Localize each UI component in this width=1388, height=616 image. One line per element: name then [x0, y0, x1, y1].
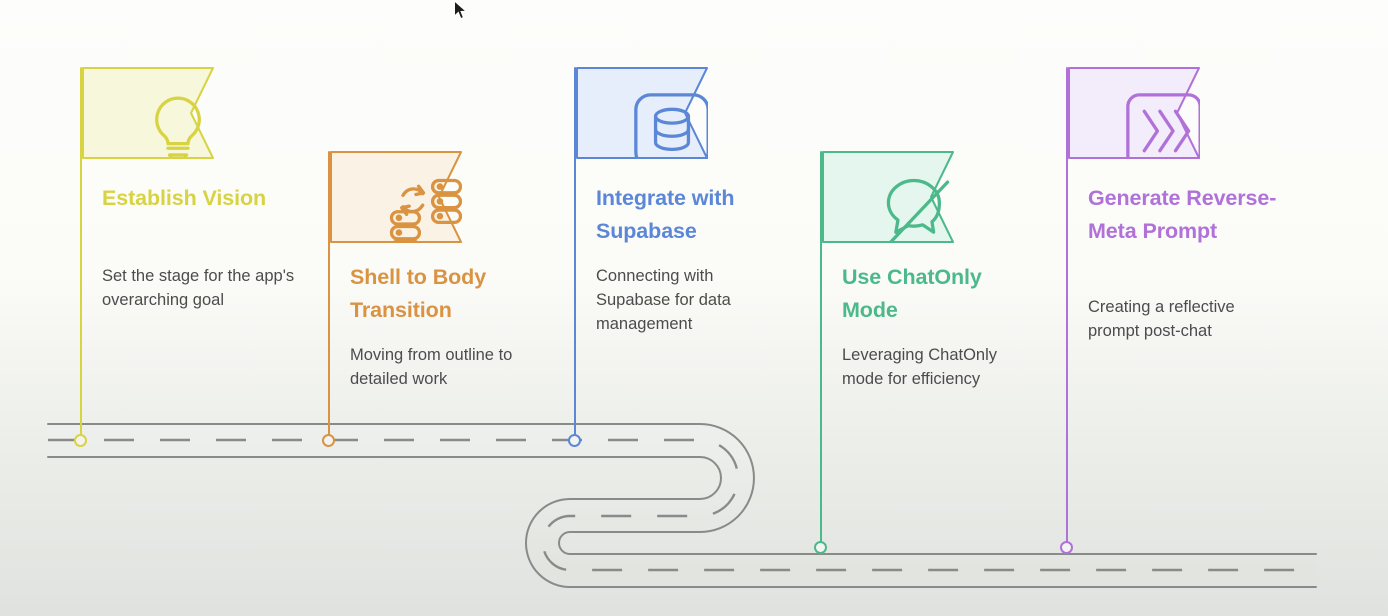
roadmap-canvas: Establish VisionSet the stage for the ap…	[0, 0, 1388, 616]
milestone-title: Integrate with Supabase	[596, 182, 786, 247]
road-border-top	[48, 424, 1316, 554]
milestone-node-generate-reverse-meta-prompt[interactable]	[1060, 541, 1073, 554]
milestone-flag	[330, 151, 462, 243]
milestone-title: Generate Reverse-Meta Prompt	[1088, 182, 1278, 247]
milestone-node-integrate-with-supabase[interactable]	[568, 434, 581, 447]
milestone-title: Use ChatOnly Mode	[842, 261, 1032, 326]
milestone-description: Leveraging ChatOnly mode for efficiency	[842, 344, 1038, 392]
road-border-bottom	[48, 457, 1316, 587]
milestone-node-use-chatonly-mode[interactable]	[814, 541, 827, 554]
road-surface	[48, 440, 1316, 570]
milestone-node-shell-to-body-transition[interactable]	[322, 434, 335, 447]
milestone-node-establish-vision[interactable]	[74, 434, 87, 447]
milestone-title: Establish Vision	[102, 182, 292, 215]
milestone-description: Creating a reflective prompt post-chat	[1088, 296, 1284, 344]
milestone-flag	[1068, 67, 1200, 159]
milestone-title: Shell to Body Transition	[350, 261, 540, 326]
milestone-flag	[822, 151, 954, 243]
milestone-flag	[82, 67, 214, 159]
milestone-flag	[576, 67, 708, 159]
mouse-pointer-icon	[453, 0, 469, 22]
milestone-description: Moving from outline to detailed work	[350, 344, 546, 392]
road-center-dashes	[48, 440, 1316, 570]
milestone-description: Set the stage for the app's overarching …	[102, 265, 298, 313]
milestone-description: Connecting with Supabase for data manage…	[596, 265, 792, 337]
